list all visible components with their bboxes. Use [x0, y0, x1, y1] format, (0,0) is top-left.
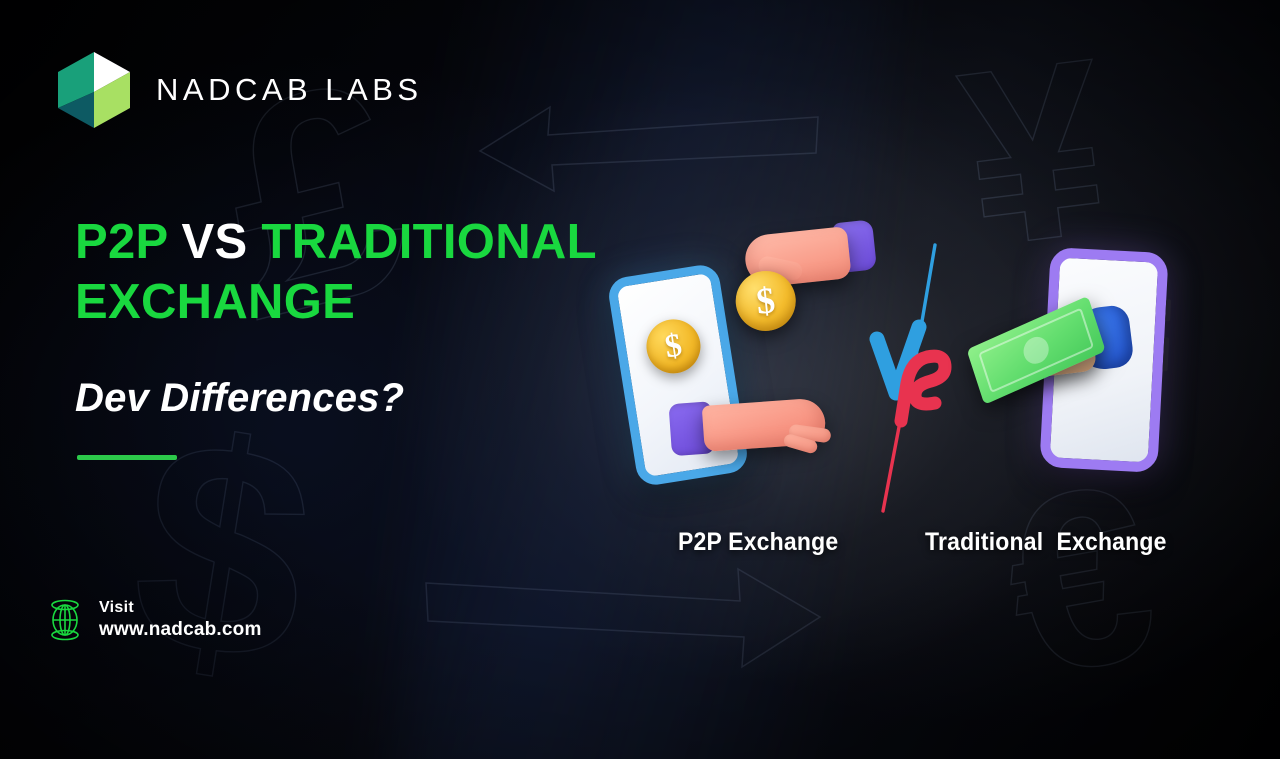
caption-p2p-exchange: P2P Exchange [678, 528, 838, 557]
headline-vs: VS [182, 215, 248, 269]
cube-hexagon-logo-icon [52, 48, 136, 132]
phone-side-button [1163, 337, 1170, 371]
p2p-giving-hand: $ [722, 217, 881, 328]
headline-line-2: EXCHANGE [75, 275, 355, 329]
headline-part-1: P2P [75, 215, 182, 269]
arrow-right-watermark [420, 555, 890, 690]
banner-root: £ ¥ $ € NADCAB LABS P2P VS TRADITIONAL E… [0, 0, 1280, 759]
globe-icon [45, 597, 85, 643]
visit-text-group: Visit www.nadcab.com [99, 598, 262, 642]
arrow-left-watermark [430, 95, 820, 220]
coin-on-screen-icon: $ [643, 315, 705, 377]
visit-link[interactable]: Visit www.nadcab.com [45, 597, 262, 643]
accent-rule [77, 455, 177, 460]
visit-url: www.nadcab.com [99, 618, 262, 642]
p2p-receiving-hand [668, 390, 822, 456]
phone-side-button [1165, 299, 1171, 321]
brand-name: NADCAB LABS [156, 72, 423, 108]
vs-badge-icon [861, 235, 981, 525]
caption-traditional-exchange: Traditional Exchange [925, 528, 1167, 557]
headline-part-2: TRADITIONAL [248, 215, 597, 269]
subtitle: Dev Differences? [75, 376, 404, 421]
brand-logo[interactable]: NADCAB LABS [52, 48, 423, 132]
illustration-stage: $ $ [575, 215, 1255, 545]
visit-label: Visit [99, 598, 262, 618]
